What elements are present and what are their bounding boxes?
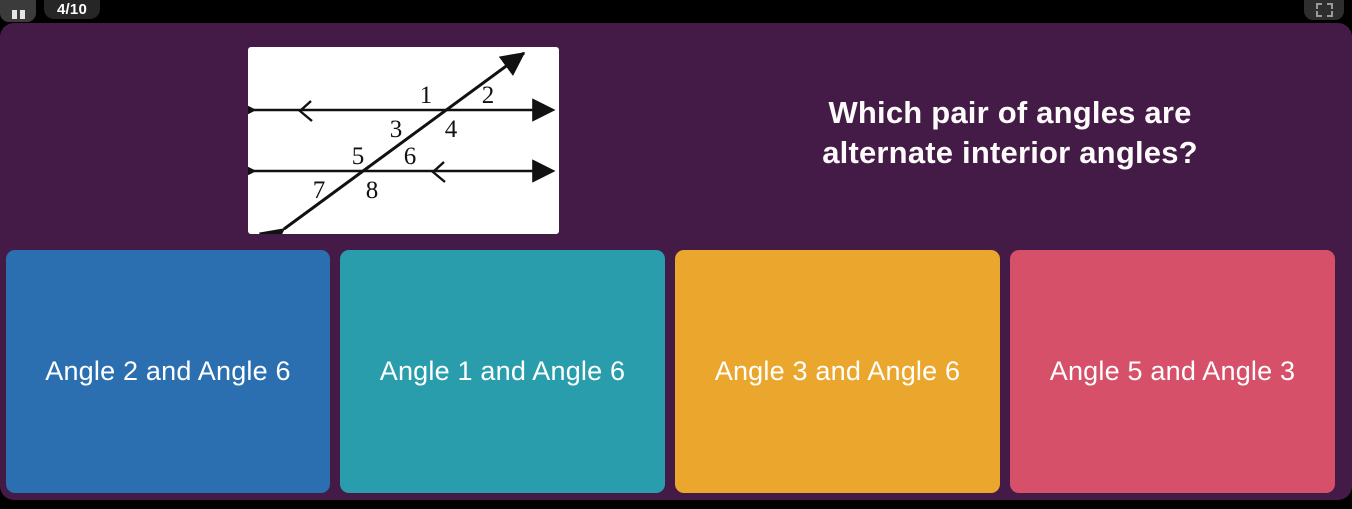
answer-option-1-label: Angle 2 and Angle 6 (6, 356, 330, 387)
top-toolbar: 4/10 (0, 0, 1352, 23)
question-area: 1 2 3 4 5 6 7 8 Which pair of angles are… (0, 23, 1352, 250)
quiz-panel: 1 2 3 4 5 6 7 8 Which pair of angles are… (0, 23, 1352, 500)
parallel-lines-transversal-diagram: 1 2 3 4 5 6 7 8 (248, 47, 559, 234)
question-prompt: Which pair of angles are alternate inter… (680, 93, 1340, 173)
answer-option-2[interactable]: Angle 1 and Angle 6 (340, 250, 665, 493)
fullscreen-icon (1316, 3, 1333, 17)
question-line-1: Which pair of angles are (680, 93, 1340, 133)
answer-option-4-label: Angle 5 and Angle 3 (1010, 356, 1335, 387)
fullscreen-button[interactable] (1304, 0, 1344, 20)
svg-text:3: 3 (390, 116, 403, 143)
answer-option-2-label: Angle 1 and Angle 6 (340, 356, 665, 387)
answer-option-4[interactable]: Angle 5 and Angle 3 (1010, 250, 1335, 493)
svg-text:6: 6 (404, 143, 417, 170)
pause-button[interactable] (0, 0, 36, 22)
quiz-screen: 4/10 (0, 0, 1352, 509)
svg-text:8: 8 (366, 177, 379, 204)
svg-text:5: 5 (352, 143, 365, 170)
svg-text:2: 2 (482, 82, 495, 109)
question-line-2: alternate interior angles? (680, 133, 1340, 173)
answer-options: Angle 2 and Angle 6 Angle 1 and Angle 6 … (0, 250, 1352, 500)
answer-option-3-label: Angle 3 and Angle 6 (675, 356, 1000, 387)
question-counter-badge: 4/10 (44, 0, 100, 19)
pause-icon (12, 10, 25, 19)
svg-text:4: 4 (445, 116, 458, 143)
svg-text:1: 1 (420, 82, 433, 109)
svg-text:7: 7 (313, 177, 326, 204)
answer-option-3[interactable]: Angle 3 and Angle 6 (675, 250, 1000, 493)
answer-option-1[interactable]: Angle 2 and Angle 6 (6, 250, 330, 493)
